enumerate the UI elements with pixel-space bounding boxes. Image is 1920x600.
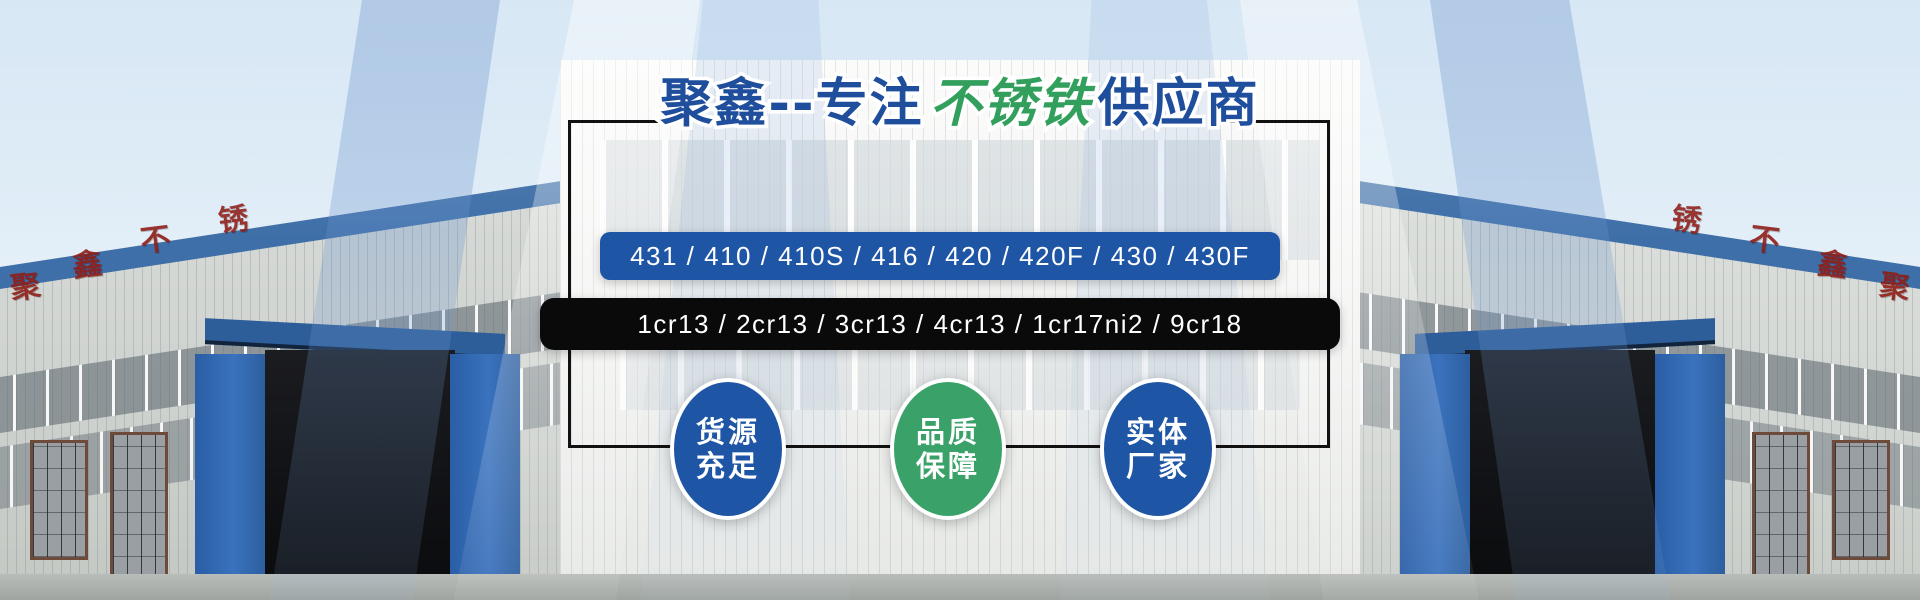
headline-highlight: 不锈铁	[924, 74, 1098, 134]
blue-pillar-left-outer	[195, 354, 265, 600]
steel-grades-bar: 431 / 410 / 410S / 416 / 420 / 420F / 43…	[600, 232, 1280, 280]
wall-character-left-3: 鑫	[69, 238, 104, 285]
wall-character-right-4: 聚	[1877, 260, 1912, 307]
blue-pillar-right-inner	[1400, 354, 1470, 600]
factory-door-right	[1465, 350, 1655, 600]
headline: 聚鑫--专注不锈铁供应商	[0, 78, 1920, 130]
wall-character-right-3: 鑫	[1815, 238, 1850, 285]
factory-door-left	[265, 350, 455, 600]
barred-window-1	[110, 432, 168, 582]
blue-pillar-right-outer	[1655, 354, 1725, 600]
barred-window-4	[1832, 440, 1890, 560]
barred-window-3	[1752, 432, 1810, 582]
wall-character-left-4: 聚	[7, 260, 42, 307]
blue-pillar-left-inner	[450, 354, 520, 600]
wall-character-left-2: 不	[137, 213, 172, 260]
barred-window-2	[30, 440, 88, 560]
promo-banner: 锈 不 鑫 聚 锈 不 鑫 聚 聚鑫--专注不锈铁供应商	[0, 0, 1920, 600]
wall-character-right-2: 不	[1747, 213, 1782, 260]
alloy-codes-bar: 1cr13 / 2cr13 / 3cr13 / 4cr13 / 1cr17ni2…	[540, 298, 1340, 350]
wall-character-right-1: 锈	[1669, 193, 1704, 240]
headline-part-2: 供应商	[1098, 74, 1260, 134]
ground-strip	[0, 574, 1920, 600]
wall-character-left-1: 锈	[215, 193, 250, 240]
headline-part-1: 聚鑫--专注	[660, 74, 923, 134]
